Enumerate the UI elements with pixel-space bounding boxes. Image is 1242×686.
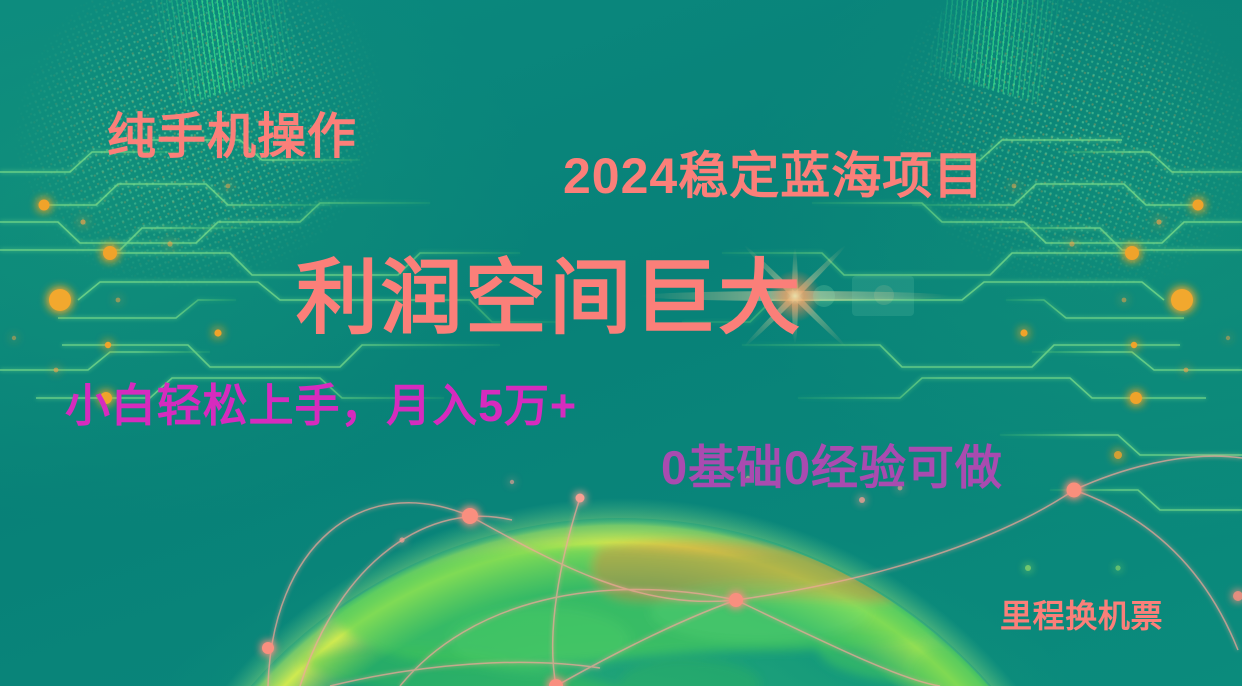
headline-pure-mobile: 纯手机操作 — [107, 97, 357, 168]
promo-poster: 纯手机操作 2024稳定蓝海项目 利润空间巨大 小白轻松上手，月入5万+ 0基础… — [0, 0, 1242, 686]
headline-year-project: 2024稳定蓝海项目 — [563, 136, 984, 208]
headline-zero-basis: 0基础0经验可做 — [661, 429, 1003, 498]
headline-easy-income: 小白轻松上手，月入5万+ — [65, 369, 577, 434]
page-title: 利润空间巨大 — [296, 231, 803, 350]
watermark-label: 里程换机票 — [1000, 591, 1163, 637]
